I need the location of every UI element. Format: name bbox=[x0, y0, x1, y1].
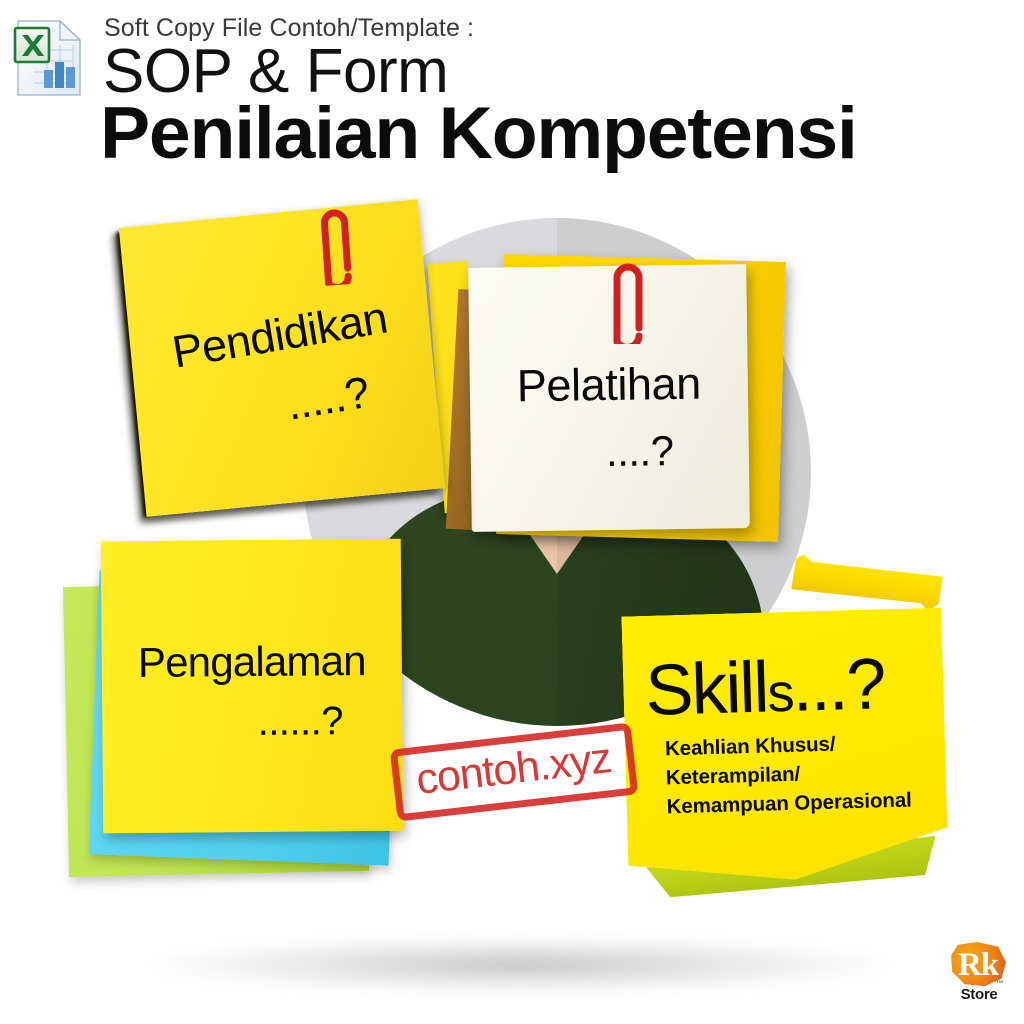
logo-name: Store bbox=[946, 986, 1012, 1003]
note-label-pengalaman: Pengalaman bbox=[102, 637, 402, 688]
note-dots-pelatihan: ....? bbox=[470, 426, 779, 478]
logo-mark: Rk bbox=[950, 945, 1006, 985]
red-paperclip-icon bbox=[311, 204, 358, 287]
yellow-tape-icon bbox=[791, 554, 943, 613]
sticky-note-skills[interactable]: Skills...? Keahlian Khusus/ Keterampilan… bbox=[621, 608, 948, 885]
sticky-note-pengalaman[interactable]: Pengalaman ......? bbox=[101, 539, 404, 834]
excel-file-icon bbox=[10, 18, 88, 98]
skills-small: s bbox=[767, 663, 794, 724]
note-label-skills: Skills...? bbox=[622, 641, 966, 733]
red-paperclip-icon bbox=[603, 258, 647, 344]
sticky-note-pendidikan[interactable]: Pendidikan .....? bbox=[119, 199, 445, 516]
poster-canvas: Soft Copy File Contoh/Template : SOP & F… bbox=[0, 0, 1024, 1024]
skills-tail: ...? bbox=[791, 644, 885, 727]
floor-shadow bbox=[150, 935, 890, 995]
note-label-pelatihan: Pelatihan bbox=[469, 357, 748, 413]
note-subtitle-skills: Keahlian Khusus/ Keterampilan/ Kemampuan… bbox=[665, 727, 947, 822]
header: Soft Copy File Contoh/Template : SOP & F… bbox=[0, 0, 1024, 185]
note-dots-pengalaman: ......? bbox=[102, 698, 450, 746]
rk-store-logo: Rk ™ Store bbox=[946, 942, 1012, 1014]
page-title-line2: Penilaian Kompetensi bbox=[100, 97, 857, 171]
skills-main: Skill bbox=[644, 647, 768, 730]
